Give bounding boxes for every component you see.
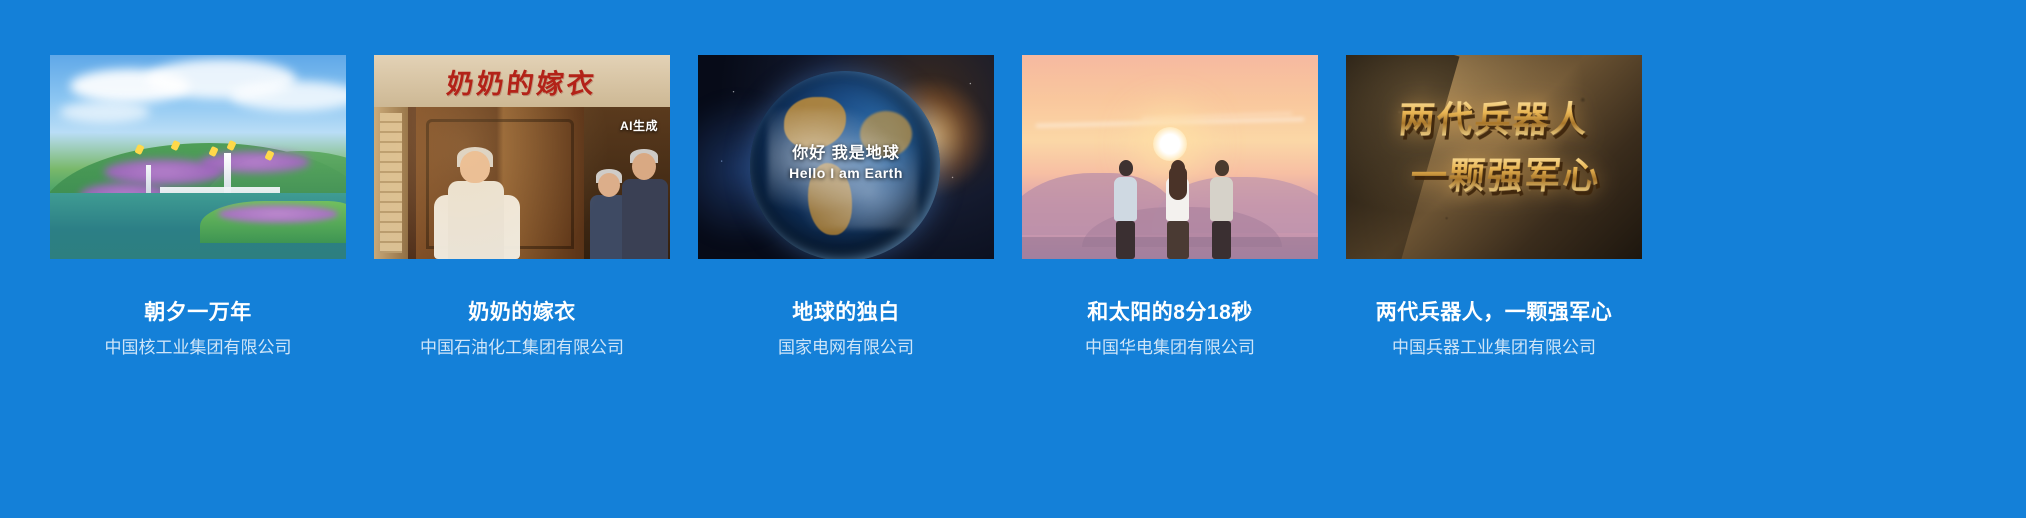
thumbnail-banner: 奶奶的嫁衣: [374, 55, 670, 107]
video-thumbnail-eco-power-plant-landscape[interactable]: [50, 55, 346, 259]
video-thumbnail-grandmother-wedding-dress[interactable]: 奶奶的嫁衣 AI生成: [374, 55, 670, 259]
person-head: [1215, 160, 1229, 176]
person-legs: [1116, 221, 1135, 259]
person-legs: [1212, 221, 1231, 259]
earth-overlay-chinese: 你好 我是地球: [698, 139, 994, 163]
video-card-gallery: 朝夕一万年 中国核工业集团有限公司 奶奶的嫁衣 AI生成 奶奶的: [0, 0, 2026, 359]
cloud-shape: [60, 101, 150, 123]
video-thumbnail-sunset-three-people[interactable]: [1022, 55, 1318, 259]
video-company: 中国石油化工集团有限公司: [374, 337, 670, 359]
video-card-3[interactable]: 你好 我是地球 Hello I am Earth 地球的独白 国家电网有限公司: [698, 55, 994, 359]
person-hair: [1169, 166, 1187, 200]
video-card-4[interactable]: 和太阳的8分18秒 中国华电集团有限公司: [1022, 55, 1318, 359]
person-torso: [1114, 177, 1137, 221]
video-title[interactable]: 地球的独白: [698, 300, 994, 326]
person-legs: [1167, 221, 1189, 259]
video-card-5[interactable]: 两代兵器人 一颗强军心 两代兵器人，一颗强军心 中国兵器工业集团有限公司: [1346, 55, 1642, 359]
video-company: 国家电网有限公司: [698, 337, 994, 359]
earth-overlay-text: 你好 我是地球 Hello I am Earth: [698, 139, 994, 181]
video-company: 中国华电集团有限公司: [1022, 337, 1318, 359]
person-silhouette: [1166, 160, 1189, 259]
person-silhouette: [1210, 160, 1233, 259]
flower-bloom: [218, 205, 338, 223]
video-title[interactable]: 朝夕一万年: [50, 300, 346, 326]
video-company: 中国核工业集团有限公司: [50, 337, 346, 359]
gold-title-line-1: 两代兵器人: [1346, 91, 1642, 143]
video-card-meta: 两代兵器人，一颗强军心 中国兵器工业集团有限公司: [1346, 300, 1642, 359]
video-title[interactable]: 奶奶的嫁衣: [374, 300, 670, 326]
video-card-meta: 和太阳的8分18秒 中国华电集团有限公司: [1022, 300, 1318, 359]
cloud-shape: [230, 81, 346, 111]
video-card-2[interactable]: 奶奶的嫁衣 AI生成 奶奶的嫁衣 中国石油化工集团有限公司: [374, 55, 670, 359]
video-card-meta: 奶奶的嫁衣 中国石油化工集团有限公司: [374, 300, 670, 359]
video-title[interactable]: 两代兵器人，一颗强军心: [1346, 300, 1642, 326]
earth-overlay-english: Hello I am Earth: [698, 165, 994, 181]
video-thumbnail-gold-metal-title-card[interactable]: 两代兵器人 一颗强军心: [1346, 55, 1642, 259]
video-title[interactable]: 和太阳的8分18秒: [1022, 300, 1318, 326]
video-company: 中国兵器工业集团有限公司: [1346, 337, 1642, 359]
video-card-meta: 朝夕一万年 中国核工业集团有限公司: [50, 300, 346, 359]
banner-title-text: 奶奶的嫁衣: [445, 62, 599, 101]
gold-title-line-2: 一颗强军心: [1368, 147, 1642, 199]
video-card-meta: 地球的独白 国家电网有限公司: [698, 300, 994, 359]
video-thumbnail-earth-in-space[interactable]: 你好 我是地球 Hello I am Earth: [698, 55, 994, 259]
person-torso: [1210, 177, 1233, 221]
person-silhouette: [1114, 160, 1137, 259]
cloud-streak: [1036, 118, 1304, 128]
flower-bloom: [200, 151, 310, 173]
sun-disc: [1153, 127, 1187, 161]
video-card-1[interactable]: 朝夕一万年 中国核工业集团有限公司: [50, 55, 346, 359]
person-head: [1119, 160, 1133, 176]
